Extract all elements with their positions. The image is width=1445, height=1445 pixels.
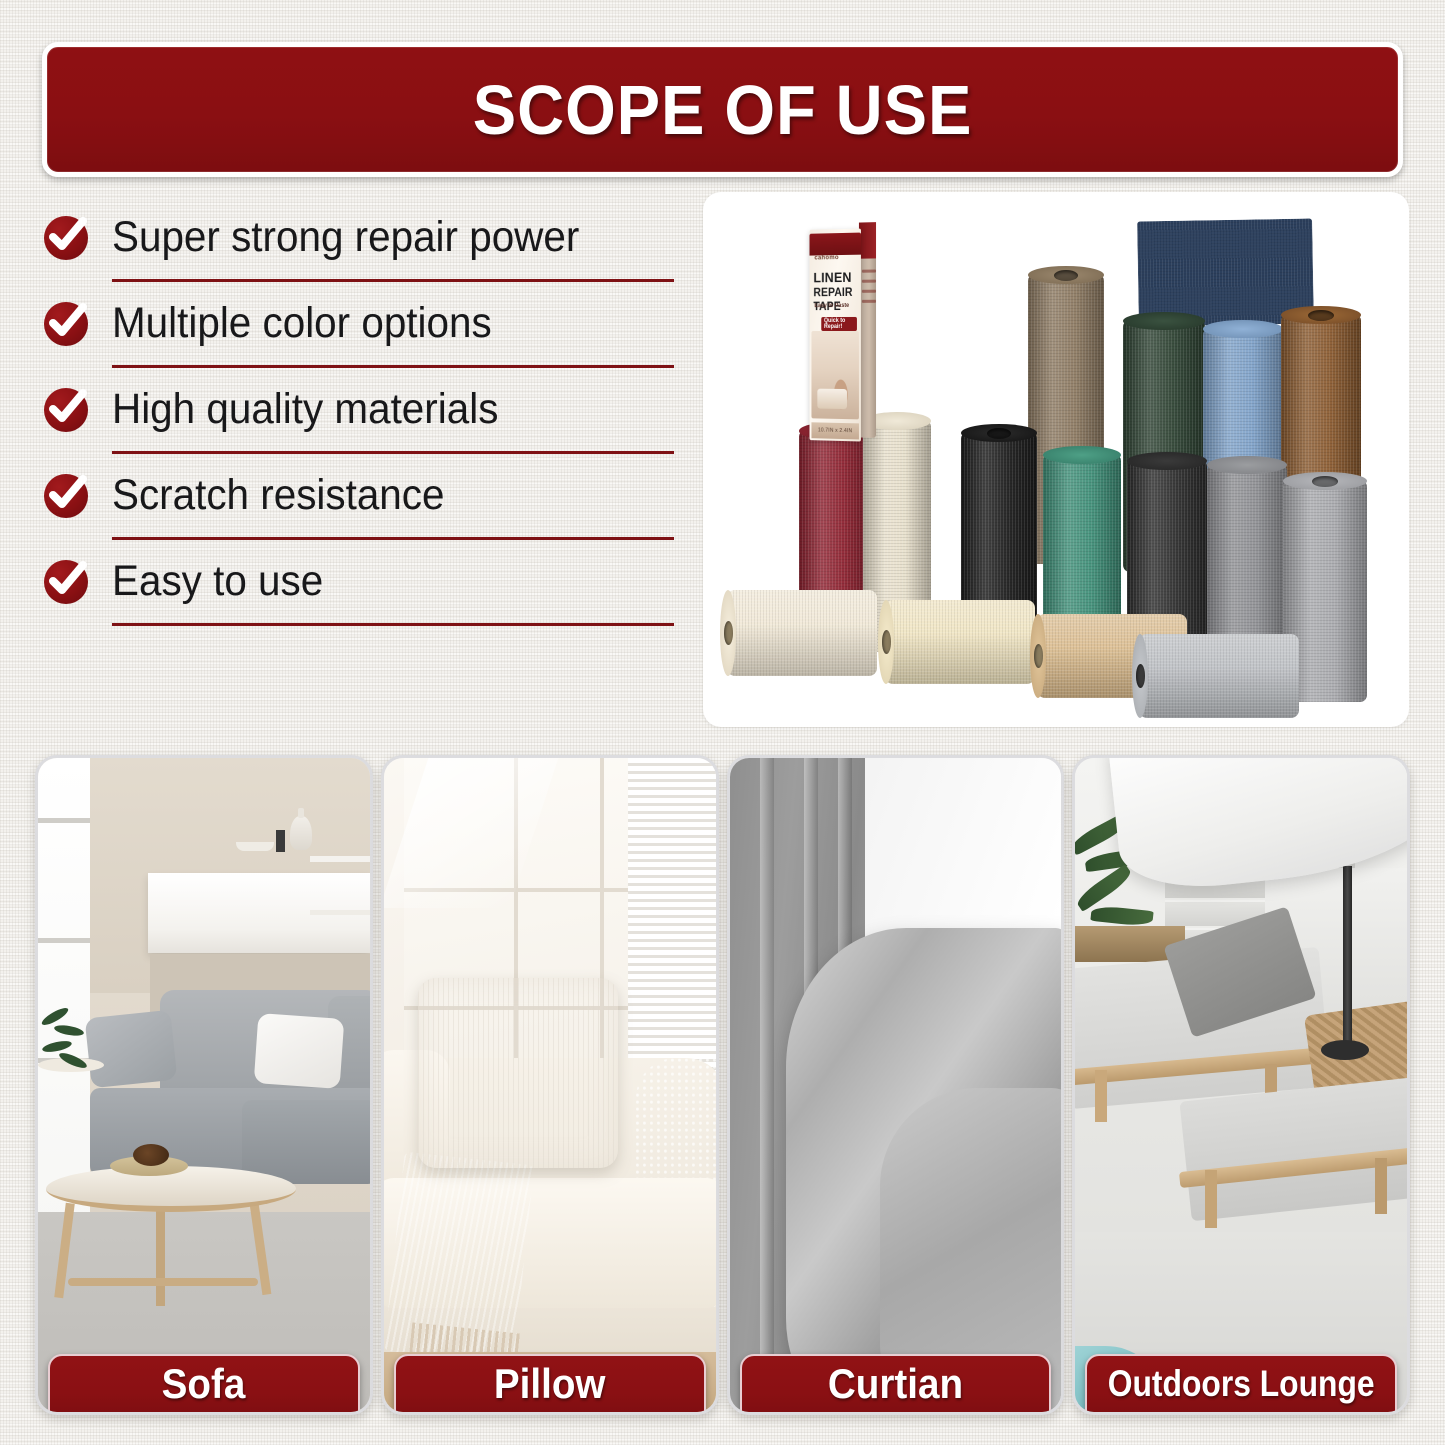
check-circle-icon (44, 216, 88, 260)
card-label-text: Sofa (162, 1360, 246, 1415)
product-box: cahomo LINEN REPAIR TAPE Easy to Paste Q… (810, 218, 876, 440)
feature-item: Super strong repair power (44, 196, 676, 279)
scene-photo-outdoors-lounge (1075, 758, 1407, 1412)
product-rolls-illustration: cahomo LINEN REPAIR TAPE Easy to Paste Q… (703, 192, 1409, 727)
card-label-pillow: Pillow (394, 1354, 706, 1415)
scope-of-use-infographic: SCOPE OF USE Super strong repair power M… (0, 0, 1445, 1445)
feature-item: Easy to use (44, 540, 676, 623)
card-label-curtain: Curtian (740, 1354, 1052, 1415)
feature-divider (112, 623, 674, 626)
page-title-banner: SCOPE OF USE (42, 42, 1403, 177)
tape-roll-beige (885, 600, 1035, 684)
card-label-outdoors-lounge: Outdoors Lounge (1085, 1354, 1397, 1415)
product-photo-panel: cahomo LINEN REPAIR TAPE Easy to Paste Q… (703, 192, 1409, 727)
use-case-card-outdoors-lounge[interactable]: Outdoors Lounge (1072, 755, 1410, 1415)
feature-item: Multiple color options (44, 282, 676, 365)
use-case-card-row: Sofa (35, 755, 1410, 1415)
box-title-line1: LINEN (813, 269, 851, 285)
check-circle-icon (44, 388, 88, 432)
use-case-card-curtain[interactable]: Curtian (727, 755, 1065, 1415)
use-case-card-sofa[interactable]: Sofa (35, 755, 373, 1415)
tape-roll-silver-grey (1139, 634, 1299, 718)
tape-roll-ivory (727, 590, 877, 676)
feature-label: Multiple color options (112, 299, 492, 348)
feature-label: Easy to use (112, 557, 323, 606)
card-label-text: Outdoors Lounge (1108, 1363, 1375, 1415)
check-circle-icon (44, 560, 88, 604)
scene-photo-curtain (730, 758, 1062, 1412)
feature-item: Scratch resistance (44, 454, 676, 537)
check-circle-icon (44, 302, 88, 346)
page-title: SCOPE OF USE (473, 70, 973, 150)
card-label-text: Curtian (828, 1360, 963, 1415)
box-tagline-easy-to-paste: Easy to Paste (814, 303, 849, 309)
box-size-text: 10.7IN x 2.4IN (811, 422, 858, 439)
card-label-sofa: Sofa (48, 1354, 360, 1415)
feature-label: Super strong repair power (112, 213, 579, 262)
feature-label: High quality materials (112, 385, 498, 434)
feature-list: Super strong repair power Multiple color… (44, 196, 676, 626)
brand-logo: cahomo (814, 255, 838, 261)
feature-label: Scratch resistance (112, 471, 444, 520)
card-label-text: Pillow (494, 1360, 606, 1415)
scene-photo-pillow (384, 758, 716, 1412)
check-circle-icon (44, 474, 88, 518)
box-lifestyle-photo (811, 331, 858, 419)
box-tagline-quick-to-repair: Quick to Repair! (821, 317, 857, 331)
scene-photo-sofa (38, 758, 370, 1412)
use-case-card-pillow[interactable]: Pillow (381, 755, 719, 1415)
feature-item: High quality materials (44, 368, 676, 451)
